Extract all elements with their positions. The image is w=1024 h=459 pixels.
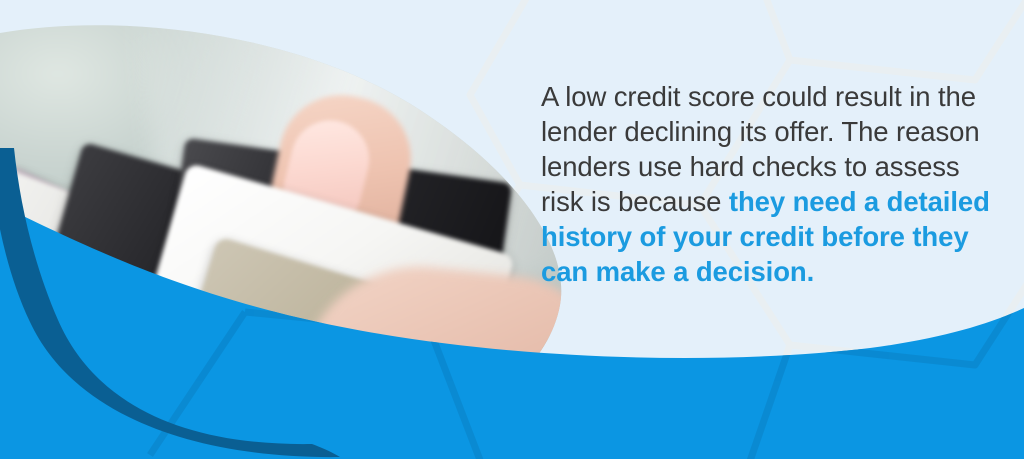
credit-score-banner: A low credit score could result in the l… (0, 0, 1024, 459)
banner-paragraph: A low credit score could result in the l… (541, 79, 991, 289)
